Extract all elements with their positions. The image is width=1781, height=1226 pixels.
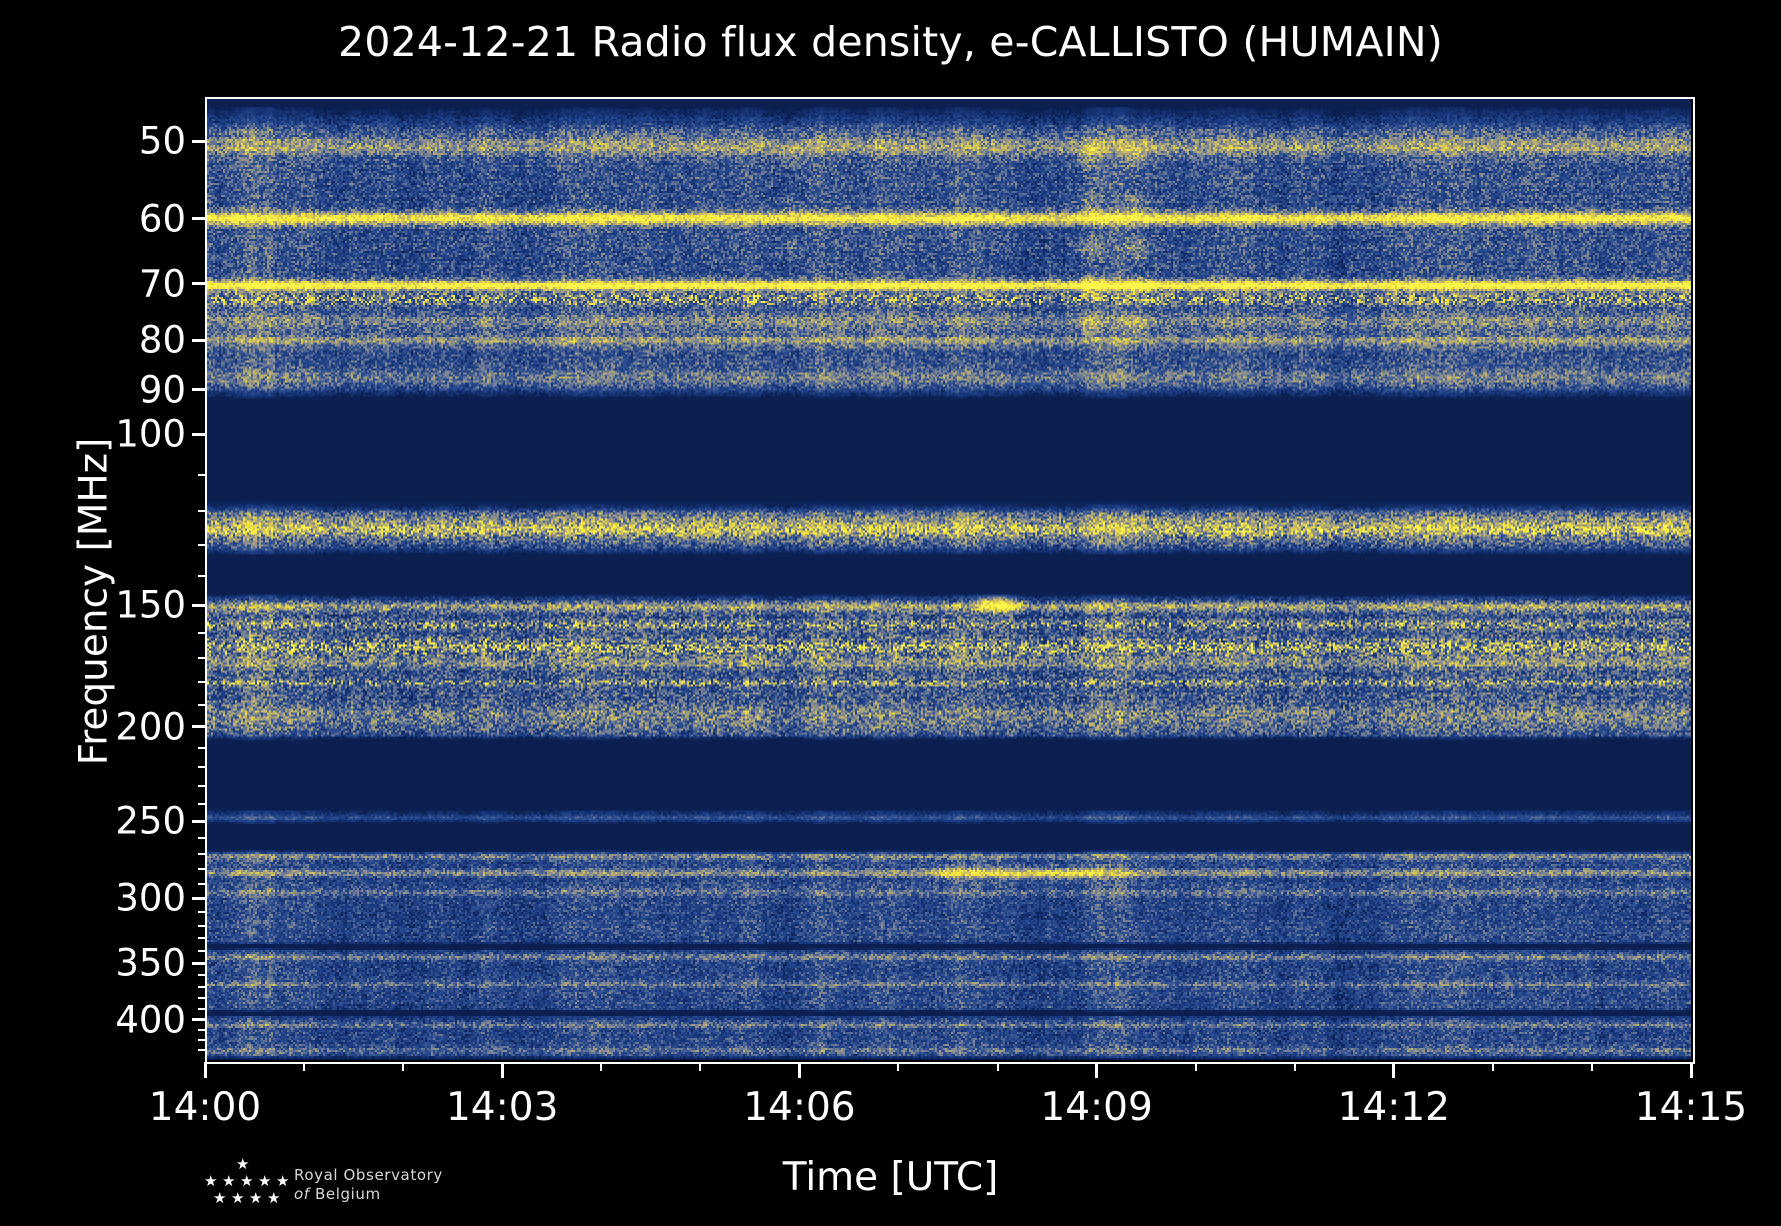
y-tick-minor <box>198 925 205 927</box>
x-tick-mark <box>798 1062 801 1078</box>
y-tick-mark <box>192 604 205 607</box>
royal-observatory-logo: ★★★★★★★★★★ Royal Observatory of Belgium <box>196 1152 496 1218</box>
star-icon: ★ <box>204 1174 217 1189</box>
y-tick-mark <box>192 282 205 285</box>
y-tick-label: 70 <box>139 262 186 305</box>
logo-text: Royal Observatory of Belgium <box>294 1166 443 1204</box>
x-tick-mark <box>1690 1062 1693 1078</box>
star-icon: ★ <box>213 1191 226 1206</box>
x-tick-mark <box>1095 1062 1098 1078</box>
y-tick-minor <box>198 657 205 659</box>
y-tick-minor <box>198 997 205 999</box>
x-tick-minor <box>1591 1062 1593 1071</box>
x-tick-minor <box>402 1062 404 1071</box>
spectrogram-figure: 2024-12-21 Radio flux density, e-CALLIST… <box>0 0 1781 1226</box>
y-tick-minor <box>198 474 205 476</box>
y-tick-minor <box>198 974 205 976</box>
y-tick-minor <box>198 911 205 913</box>
x-tick-minor <box>1492 1062 1494 1071</box>
x-tick-minor <box>897 1062 899 1071</box>
x-tick-label: 14:09 <box>1040 1085 1152 1130</box>
star-icon: ★ <box>276 1174 289 1189</box>
y-tick-minor <box>198 837 205 839</box>
x-tick-label: 14:15 <box>1635 1085 1747 1130</box>
y-tick-minor <box>198 853 205 855</box>
y-tick-minor <box>198 883 205 885</box>
star-icon: ★ <box>222 1174 235 1189</box>
page-title: 2024-12-21 Radio flux density, e-CALLIST… <box>0 18 1781 66</box>
y-tick-mark <box>192 217 205 220</box>
star-icon: ★ <box>249 1191 262 1206</box>
logo-org-name: Royal Observatory <box>294 1166 443 1185</box>
y-tick-label: 400 <box>115 998 186 1041</box>
logo-org-of: of <box>294 1185 310 1203</box>
x-tick-minor <box>997 1062 999 1071</box>
y-tick-minor <box>198 1029 205 1031</box>
x-tick-minor <box>600 1062 602 1071</box>
y-tick-label: 300 <box>115 877 186 920</box>
x-tick-label: 14:03 <box>446 1085 558 1130</box>
y-tick-minor <box>198 1039 205 1041</box>
y-tick-minor <box>198 747 205 749</box>
star-icon: ★ <box>240 1174 253 1189</box>
x-tick-minor <box>699 1062 701 1071</box>
y-tick-minor <box>198 785 205 787</box>
y-tick-minor <box>198 986 205 988</box>
x-tick-label: 14:00 <box>149 1085 261 1130</box>
y-tick-minor <box>198 937 205 939</box>
x-tick-label: 14:06 <box>743 1085 855 1130</box>
y-tick-label: 90 <box>139 368 186 411</box>
y-tick-minor <box>198 575 205 577</box>
y-tick-mark <box>192 339 205 342</box>
x-tick-label: 14:12 <box>1338 1085 1450 1130</box>
y-tick-minor <box>198 1008 205 1010</box>
spectrogram-plot[interactable] <box>205 97 1691 1060</box>
y-tick-label: 60 <box>139 197 186 240</box>
y-tick-label: 100 <box>115 413 186 456</box>
y-tick-mark <box>192 725 205 728</box>
y-tick-minor <box>198 510 205 512</box>
y-axis-label: Frequency [MHz] <box>72 252 117 952</box>
y-tick-mark <box>192 433 205 436</box>
y-tick-minor <box>198 868 205 870</box>
y-tick-label: 350 <box>115 942 186 985</box>
y-tick-label: 200 <box>115 705 186 748</box>
x-tick-mark <box>1392 1062 1395 1078</box>
y-tick-minor <box>198 1049 205 1051</box>
y-tick-mark <box>192 140 205 143</box>
y-tick-minor <box>198 766 205 768</box>
x-tick-minor <box>1195 1062 1197 1071</box>
y-tick-label: 80 <box>139 319 186 362</box>
star-icon: ★ <box>258 1174 271 1189</box>
y-tick-minor <box>198 704 205 706</box>
y-tick-mark <box>192 820 205 823</box>
y-tick-mark <box>192 962 205 965</box>
y-tick-minor <box>198 803 205 805</box>
y-tick-label: 150 <box>115 584 186 627</box>
y-tick-minor <box>198 544 205 546</box>
star-icon: ★ <box>236 1157 249 1172</box>
star-icon: ★ <box>267 1191 280 1206</box>
x-tick-mark <box>501 1062 504 1078</box>
y-tick-minor <box>198 681 205 683</box>
star-icon: ★ <box>231 1191 244 1206</box>
y-tick-minor <box>198 950 205 952</box>
x-tick-mark <box>204 1062 207 1078</box>
y-tick-label: 250 <box>115 800 186 843</box>
y-tick-mark <box>192 388 205 391</box>
logo-org-country: Belgium <box>315 1185 381 1203</box>
y-tick-mark <box>192 897 205 900</box>
eu-stars-icon: ★★★★★★★★★★ <box>196 1157 284 1213</box>
y-tick-label: 50 <box>139 120 186 163</box>
x-tick-minor <box>303 1062 305 1071</box>
x-tick-minor <box>1294 1062 1296 1071</box>
y-tick-mark <box>192 1018 205 1021</box>
spectrogram-image[interactable] <box>205 97 1691 1060</box>
y-tick-minor <box>198 632 205 634</box>
